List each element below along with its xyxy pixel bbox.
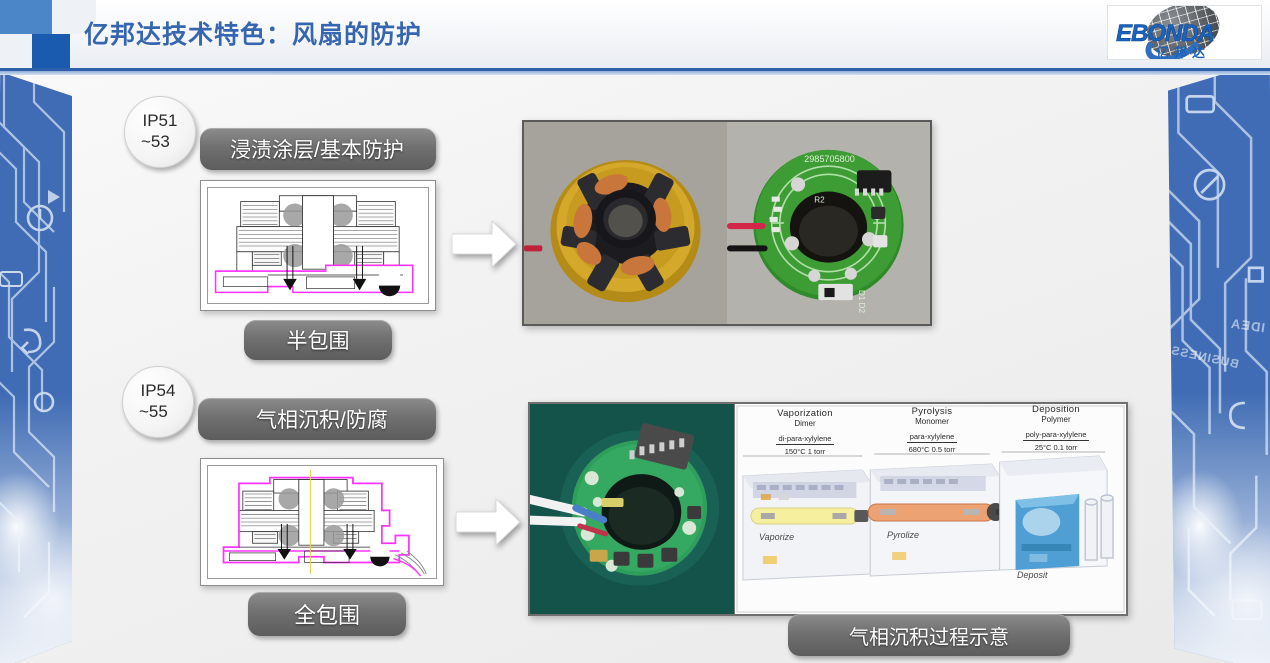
stage-chemical: poly-para-xylylene — [1023, 430, 1090, 441]
circuit-traces-left — [0, 72, 72, 663]
svg-text:D1 D2: D1 D2 — [857, 290, 866, 313]
logo-text-cn: 亿邦达 — [1156, 42, 1210, 60]
parylene-coated-pcb-photo — [530, 404, 735, 614]
photo-row-top: 2985705800 R2 D1 D2 — [522, 120, 932, 326]
circuit-board-panel-left — [0, 0, 78, 663]
right-arrow-icon-1 — [452, 218, 518, 270]
enclosure-label-half: 半包围 — [244, 320, 392, 360]
motor-cross-section-half-frame — [200, 180, 436, 311]
stage-material: Polymer — [997, 415, 1115, 424]
svg-text:2985705800: 2985705800 — [804, 154, 855, 164]
ip-badge-line1: IP54 — [141, 381, 176, 402]
header-square-4 — [32, 34, 70, 68]
stage-material: Monomer — [872, 417, 992, 426]
header-square-1 — [0, 0, 52, 34]
header-divider — [0, 68, 1270, 75]
stage-material: Dimer — [745, 419, 865, 428]
ip-badge-line2: ~55 — [139, 402, 168, 423]
motor-cross-section-full-drawing — [208, 466, 436, 578]
cvd-stage-vaporization: Vaporization Dimer di-para-xylylene 150°… — [745, 408, 865, 456]
slide: BUSINESS IDEA 亿邦达技术特色：风扇的防护 EBONDA 亿邦达 I… — [0, 0, 1270, 663]
ip-badge-54-55: IP54 ~55 — [122, 366, 194, 438]
stage-chemical: di-para-xylylene — [776, 434, 835, 445]
cvd-action-pyrolize: Pyrolize — [887, 530, 919, 540]
stage-title: Vaporization — [745, 408, 865, 419]
circuit-board-panel-right: BUSINESS IDEA — [1168, 0, 1270, 663]
page-title: 亿邦达技术特色：风扇的防护 — [84, 15, 422, 51]
enclosure-label-full: 全包围 — [248, 592, 406, 636]
stage-condition: 25°C 0.1 torr — [997, 443, 1115, 452]
cvd-stage-deposition: Deposition Polymer poly-para-xylylene 25… — [997, 404, 1115, 452]
category-label-impregnation: 浸渍涂层/基本防护 — [200, 128, 436, 170]
pcb-photo: 2985705800 R2 D1 D2 — [727, 122, 930, 324]
panel-word-business: BUSINESS — [1169, 343, 1240, 371]
cvd-process-diagram: Vaporization Dimer di-para-xylylene 150°… — [735, 404, 1126, 614]
cvd-stage-pyrolysis: Pyrolysis Monomer para-xylylene 680°C 0.… — [872, 406, 992, 454]
motor-cross-section-half-drawing — [208, 188, 428, 303]
stage-title: Pyrolysis — [872, 406, 992, 417]
motor-cross-section-full-frame — [200, 458, 444, 586]
panel-word-idea: IDEA — [1229, 316, 1266, 336]
category-label-cvd: 气相沉积/防腐 — [198, 398, 436, 440]
company-logo: EBONDA 亿邦达 — [1107, 5, 1262, 60]
stage-title: Deposition — [997, 404, 1115, 415]
stage-condition: 150°C 1 torr — [745, 447, 865, 456]
svg-text:R2: R2 — [814, 196, 825, 205]
ip-badge-51-53: IP51 ~53 — [124, 96, 196, 168]
ip-badge-line1: IP51 — [143, 111, 178, 132]
cvd-diagram-caption: 气相沉积过程示意 — [788, 614, 1070, 656]
stage-condition: 680°C 0.5 torr — [872, 445, 992, 454]
photo-row-bottom: Vaporization Dimer di-para-xylylene 150°… — [528, 402, 1128, 616]
ip-badge-line2: ~53 — [141, 132, 170, 153]
cvd-action-deposit: Deposit — [1017, 570, 1048, 580]
slide-header: 亿邦达技术特色：风扇的防护 EBONDA 亿邦达 — [0, 0, 1270, 68]
stator-varnish-photo — [524, 122, 727, 324]
circuit-traces-right — [1168, 60, 1270, 663]
stage-chemical: para-xylylene — [907, 432, 958, 443]
cvd-action-vaporize: Vaporize — [759, 532, 794, 542]
right-arrow-icon-2 — [456, 496, 522, 548]
